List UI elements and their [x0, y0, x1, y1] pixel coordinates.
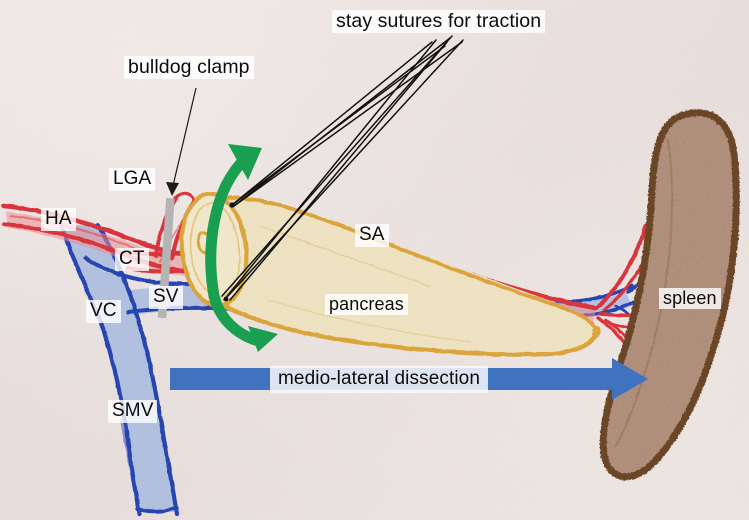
- pancreas-body-fill: [214, 198, 595, 355]
- suture-a-line-1: [232, 42, 432, 205]
- label-smv: SMV: [108, 400, 157, 423]
- label-bulldog-clamp: bulldog clamp: [124, 56, 254, 79]
- label-medio-lateral-dissection: medio-lateral dissection: [270, 366, 488, 393]
- bulldog-clamp-leader: [166, 88, 196, 196]
- suture-knot-lower: [224, 297, 229, 302]
- suture-b-line-2: [234, 42, 462, 206]
- label-vc: VC: [86, 300, 121, 323]
- label-ha: HA: [41, 208, 76, 231]
- label-lga: LGA: [109, 168, 155, 191]
- label-pancreas: pancreas: [325, 294, 408, 315]
- label-spleen: spleen: [659, 288, 721, 309]
- figure-canvas: stay sutures for traction bulldog clamp …: [0, 0, 749, 520]
- lga-tip: [176, 194, 194, 200]
- anatomy-illustration: [0, 0, 749, 520]
- label-ct: CT: [115, 248, 149, 271]
- suture-knot-upper: [229, 202, 234, 207]
- bulldog-clamp-leader-arrowhead: [166, 182, 179, 196]
- label-stay-sutures: stay sutures for traction: [332, 10, 545, 33]
- bulldog-clamp-leader-line: [172, 88, 196, 190]
- label-sv: SV: [149, 286, 183, 309]
- label-sa: SA: [355, 224, 389, 247]
